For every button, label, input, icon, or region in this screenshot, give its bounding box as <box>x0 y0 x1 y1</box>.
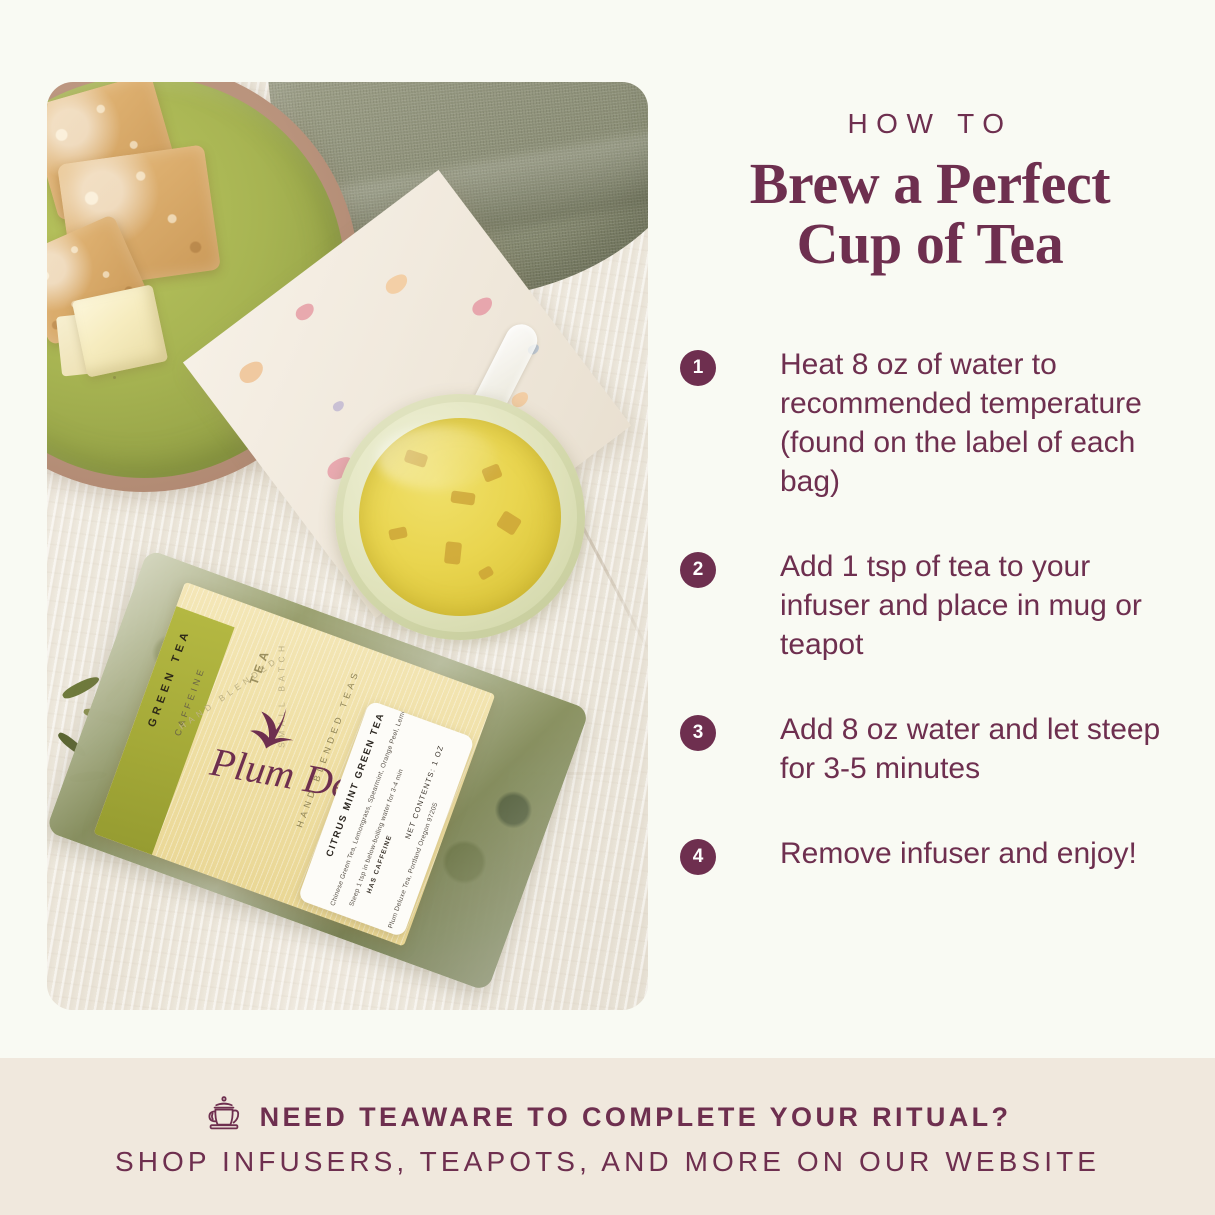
title-line-1: Brew a Perfect <box>750 151 1110 216</box>
footer-line1-text: NEED TEAWARE TO COMPLETE YOUR RITUAL? <box>260 1102 1012 1133</box>
step-text: Add 1 tsp of tea to your infuser and pla… <box>780 547 1180 664</box>
cheese-cube <box>72 284 168 377</box>
step-text: Heat 8 oz of water to recommended temper… <box>780 345 1180 501</box>
steps-list: 1 Heat 8 oz of water to recommended temp… <box>680 345 1180 875</box>
step-number-badge: 4 <box>680 839 716 875</box>
step-text: Add 8 oz water and let steep for 3-5 min… <box>780 710 1180 788</box>
teapot-icon <box>204 1095 244 1140</box>
poster-root: GREEN TEA CAFFEINE TEA HAND BLENDED SMAL… <box>0 0 1215 1215</box>
step-number-badge: 3 <box>680 715 716 751</box>
content-column: HOW TO Brew a Perfect Cup of Tea 1 Heat … <box>680 82 1180 921</box>
step-number-badge: 2 <box>680 552 716 588</box>
cup-highlight <box>377 426 497 490</box>
footer-cta-band: NEED TEAWARE TO COMPLETE YOUR RITUAL? SH… <box>0 1058 1215 1215</box>
step-item: 1 Heat 8 oz of water to recommended temp… <box>680 345 1180 501</box>
step-text: Remove infuser and enjoy! <box>780 834 1137 873</box>
kicker-how-to: HOW TO <box>680 108 1180 140</box>
title-line-2: Cup of Tea <box>797 211 1064 276</box>
step-item: 3 Add 8 oz water and let steep for 3-5 m… <box>680 710 1180 788</box>
page-title: Brew a Perfect Cup of Tea <box>680 154 1180 275</box>
footer-secondary-line: SHOP INFUSERS, TEAPOTS, AND MORE ON OUR … <box>115 1146 1100 1178</box>
step-number-badge: 1 <box>680 350 716 386</box>
step-item: 4 Remove infuser and enjoy! <box>680 834 1180 875</box>
step-item: 2 Add 1 tsp of tea to your infuser and p… <box>680 547 1180 664</box>
footer-primary-line: NEED TEAWARE TO COMPLETE YOUR RITUAL? <box>204 1095 1012 1140</box>
hero-photo: GREEN TEA CAFFEINE TEA HAND BLENDED SMAL… <box>47 82 648 1010</box>
